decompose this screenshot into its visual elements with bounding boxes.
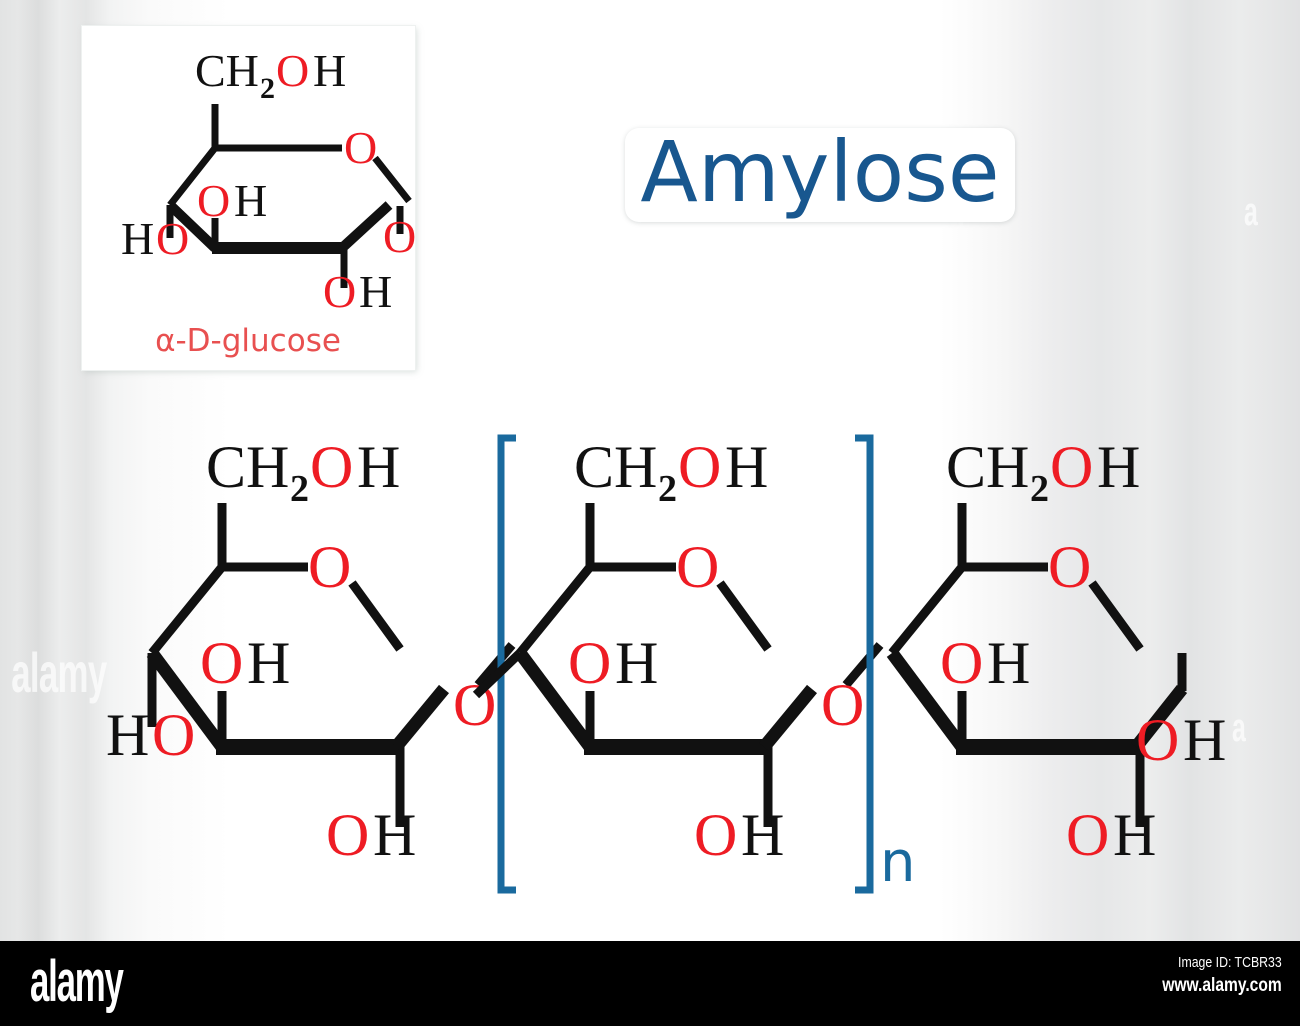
u1-ch2oh-o: O (310, 434, 353, 500)
u1-ring-oxygen: O (308, 534, 351, 600)
u2-glycosidic-oxygen: O (821, 672, 864, 738)
u1-ho-o: O (152, 702, 195, 768)
page-title: Amylose (640, 130, 999, 220)
u2-oh-inner-h: H (615, 630, 658, 696)
inset-ch2oh-o: O (276, 45, 309, 96)
amylose-chain-svg: CH 2 O H O O H H O O H O (0, 395, 1300, 915)
bond-o5-c1 (375, 158, 409, 201)
inset-oh-inner-h: H (234, 175, 267, 226)
inset-ch2oh-sub: 2 (260, 72, 275, 105)
inset-oh-bottom-h: H (359, 266, 392, 317)
inset-oh-inner-o: O (197, 175, 230, 226)
u2-bond-o5-c1 (720, 583, 768, 649)
alamy-watermark-bar: alamy Image ID: TCBR33 www.alamy.com (0, 941, 1300, 1026)
title-plate: Amylose (625, 128, 1015, 222)
u2-ch2oh-h: H (725, 434, 768, 500)
u1-oh-bottom-h: H (373, 802, 416, 868)
u3-oh-inner-h: H (987, 630, 1030, 696)
u3-oh-bottom-o: O (1066, 802, 1109, 868)
u1-ch2oh-h: H (357, 434, 400, 500)
footer-meta: Image ID: TCBR33 www.alamy.com (1136, 953, 1282, 999)
u3-ch2oh-h: H (1097, 434, 1140, 500)
glucose-unit-1: CH 2 O H O O H H O O H O (106, 434, 512, 868)
u1-oh-bottom-o: O (326, 802, 369, 868)
repeat-subscript-n: n (880, 830, 916, 895)
u3-oh-right-o: O (1136, 707, 1179, 773)
u1-bond-o5-c1 (352, 583, 400, 649)
inset-ch2oh-h: H (313, 45, 346, 96)
glucose-inset-panel: CH 2 O H O O H H O O H O (82, 26, 415, 370)
u1-ch2oh-sub: 2 (290, 468, 309, 510)
illustration-canvas: alamy a a a a a a (0, 0, 1300, 941)
inset-oh-right-o: O (383, 211, 415, 262)
u1-oh-inner-o: O (200, 630, 243, 696)
inset-ch2oh-c: CH (195, 45, 259, 96)
inset-oh-bottom-o: O (323, 266, 356, 317)
glucose-unit-3: CH 2 O H O O H O H O H (892, 434, 1226, 868)
glucose-structure-svg: CH 2 O H O O H H O O H O (82, 26, 415, 370)
u1-ch2oh-c: CH (206, 434, 289, 500)
u2-ch2oh-sub: 2 (658, 468, 677, 510)
u2-oh-bottom-o: O (694, 802, 737, 868)
glucose-caption: α-D-glucose (155, 323, 341, 359)
u1-oh-inner-h: H (247, 630, 290, 696)
inset-ho-h: H (121, 213, 154, 264)
u3-ch2oh-c: CH (946, 434, 1029, 500)
u1-ho-h: H (106, 702, 149, 768)
u3-ch2oh-o: O (1050, 434, 1093, 500)
alamy-url[interactable]: www.alamy.com (1162, 973, 1282, 999)
glucose-unit-2: CH 2 O H O O H O H O (476, 434, 880, 868)
u3-oh-inner-o: O (940, 630, 983, 696)
u2-oh-bottom-h: H (741, 802, 784, 868)
u3-ch2oh-sub: 2 (1030, 468, 1049, 510)
u3-oh-bottom-h: H (1113, 802, 1156, 868)
inset-ring-oxygen: O (344, 122, 377, 173)
inset-ho-o: O (156, 213, 189, 264)
u2-ch2oh-c: CH (574, 434, 657, 500)
alamy-logo: alamy (30, 953, 123, 1011)
bond-c2-c1 (342, 205, 389, 248)
u3-bond-o5-c1 (1092, 583, 1140, 649)
image-id-label: Image ID: TCBR33 (1162, 953, 1282, 973)
u2-oh-inner-o: O (568, 630, 611, 696)
u1-bond-c2-c1 (396, 689, 444, 747)
u2-ch2oh-o: O (678, 434, 721, 500)
u3-oh-right-h: H (1183, 707, 1226, 773)
background-watermark-letter: a (1244, 190, 1257, 235)
u2-bond-c2-c1 (764, 689, 812, 747)
screenshot-root: alamy a a a a a a (0, 0, 1300, 1026)
u3-ring-oxygen: O (1048, 534, 1091, 600)
u2-ring-oxygen: O (676, 534, 719, 600)
